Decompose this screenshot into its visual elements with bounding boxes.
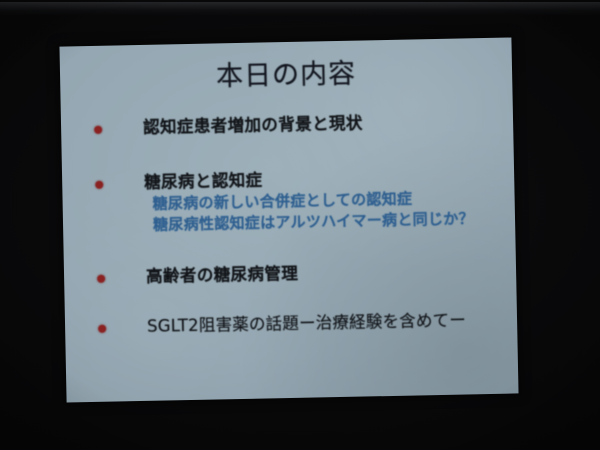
bullet-label: SGLT2阻害薬の話題ー治療経験を含めてー: [147, 310, 466, 335]
presentation-slide: 本日の内容 認知症患者増加の背景と現状 糖尿病と認知症 糖尿病: [59, 38, 518, 403]
slide-content: 本日の内容 認知症患者増加の背景と現状 糖尿病と認知症 糖尿病: [59, 38, 518, 403]
bullet-dot-icon: [95, 181, 103, 189]
bullet-dot-icon: [97, 275, 105, 283]
wall-light-band: [0, 2, 600, 16]
bullet-label: 糖尿病と認知症: [144, 171, 263, 192]
bullet-label: 高齢者の糖尿病管理: [146, 264, 298, 286]
bullet-dot-icon: [98, 325, 106, 333]
bullet-item-2: 糖尿病と認知症 糖尿病の新しい合併症としての認知症 糖尿病性認知症はアルツハイマ…: [86, 165, 503, 237]
bullet-dot-icon: [94, 126, 102, 134]
projected-slide-photo: 本日の内容 認知症患者増加の背景と現状 糖尿病と認知症 糖尿病: [0, 0, 600, 450]
bullet-label: 認知症患者増加の背景と現状: [143, 114, 363, 137]
slide-bullet-list: 認知症患者増加の背景と現状 糖尿病と認知症 糖尿病の新しい合併症としての認知症 …: [85, 110, 505, 339]
slide-title: 本日の内容: [60, 57, 512, 94]
